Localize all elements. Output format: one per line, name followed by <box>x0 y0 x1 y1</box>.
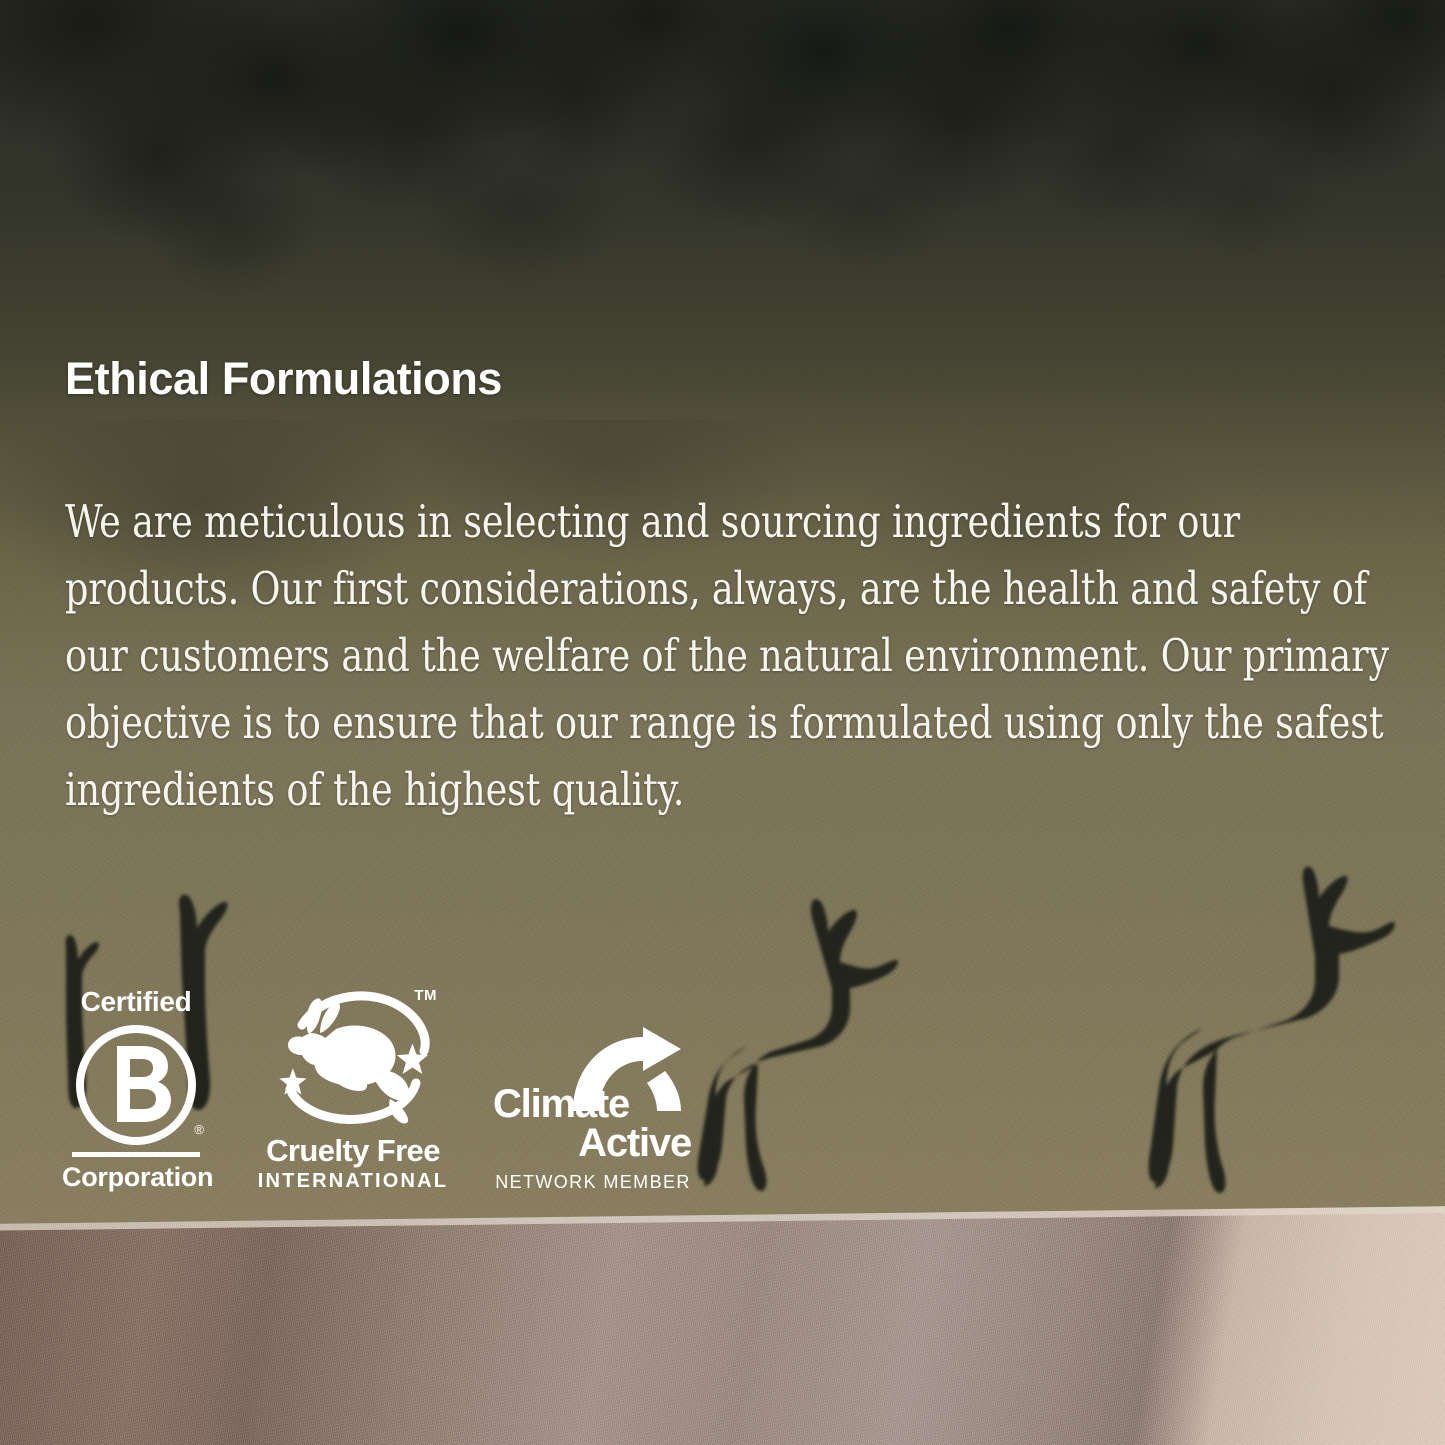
cruelty-free-label: Cruelty Free <box>255 1135 451 1166</box>
cruelty-free-international-label: INTERNATIONAL <box>255 1171 451 1191</box>
text-content: Ethical Formulations We are meticulous i… <box>65 355 1410 823</box>
bottom-band-grain <box>0 1195 1445 1445</box>
b-corp-icon: ® <box>62 1022 210 1152</box>
badge-cruelty-free-international[interactable]: TM <box>255 985 451 1191</box>
b-corp-corporation-label: Corporation <box>62 1164 210 1191</box>
b-corp-divider-rule <box>72 1152 200 1157</box>
trademark-icon: TM <box>414 987 437 1004</box>
leaping-bunny-icon <box>255 985 451 1133</box>
badge-b-corporation[interactable]: Certified ® Corporation <box>62 988 210 1191</box>
body-paragraph: We are meticulous in selecting and sourc… <box>65 488 1404 823</box>
page-title: Ethical Formulations <box>65 355 1410 402</box>
b-corp-certified-label: Certified <box>62 988 210 1016</box>
certification-badges: Certified ® Corporation TM <box>62 985 693 1191</box>
climate-active-network-member-label: NETWORK MEMBER <box>493 1173 693 1191</box>
registered-trademark-icon: ® <box>194 1123 204 1136</box>
climate-active-arc-icon <box>493 1027 693 1085</box>
badge-climate-active[interactable]: Climate Active NETWORK MEMBER <box>493 1027 693 1191</box>
ethical-formulations-panel: Ethical Formulations We are meticulous i… <box>0 0 1445 1445</box>
active-label: Active <box>493 1124 693 1163</box>
